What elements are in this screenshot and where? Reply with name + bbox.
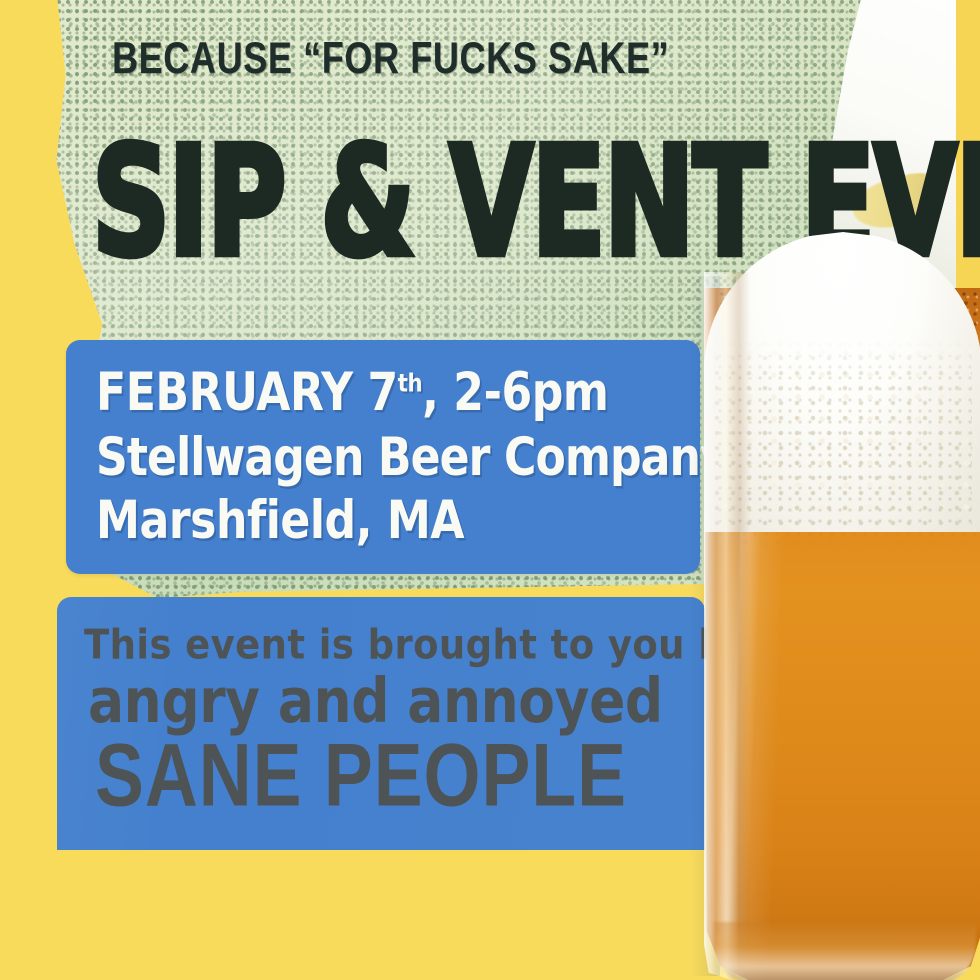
beer-foam-head (704, 232, 980, 532)
event-venue-name: Stellwagen Beer Company (96, 427, 654, 489)
event-date-prefix: FEBRUARY 7 (96, 362, 398, 424)
event-flyer-poster: BECAUSE “FOR FUCKS SAKE” SIP & VENT EVEN… (0, 0, 980, 980)
event-details-content: FEBRUARY 7th, 2-6pm Stellwagen Beer Comp… (96, 362, 690, 545)
credit-intro-line: This event is brought to you by (84, 621, 750, 668)
beer-glass-image (700, 232, 980, 980)
event-date-ordinal: th (398, 369, 422, 398)
event-details-panel: FEBRUARY 7th, 2-6pm Stellwagen Beer Comp… (66, 340, 700, 574)
credit-sponsor-line: SANE PEOPLE (95, 724, 627, 826)
event-venue-location: Marshfield, MA (96, 490, 654, 552)
poster-tagline: BECAUSE “FOR FUCKS SAKE” (112, 34, 669, 85)
glass-base (714, 922, 976, 980)
event-credit-panel: This event is brought to you by angry an… (57, 597, 705, 850)
event-time-range: , 2-6pm (422, 362, 608, 424)
event-date-line: FEBRUARY 7th, 2-6pm (96, 362, 654, 424)
